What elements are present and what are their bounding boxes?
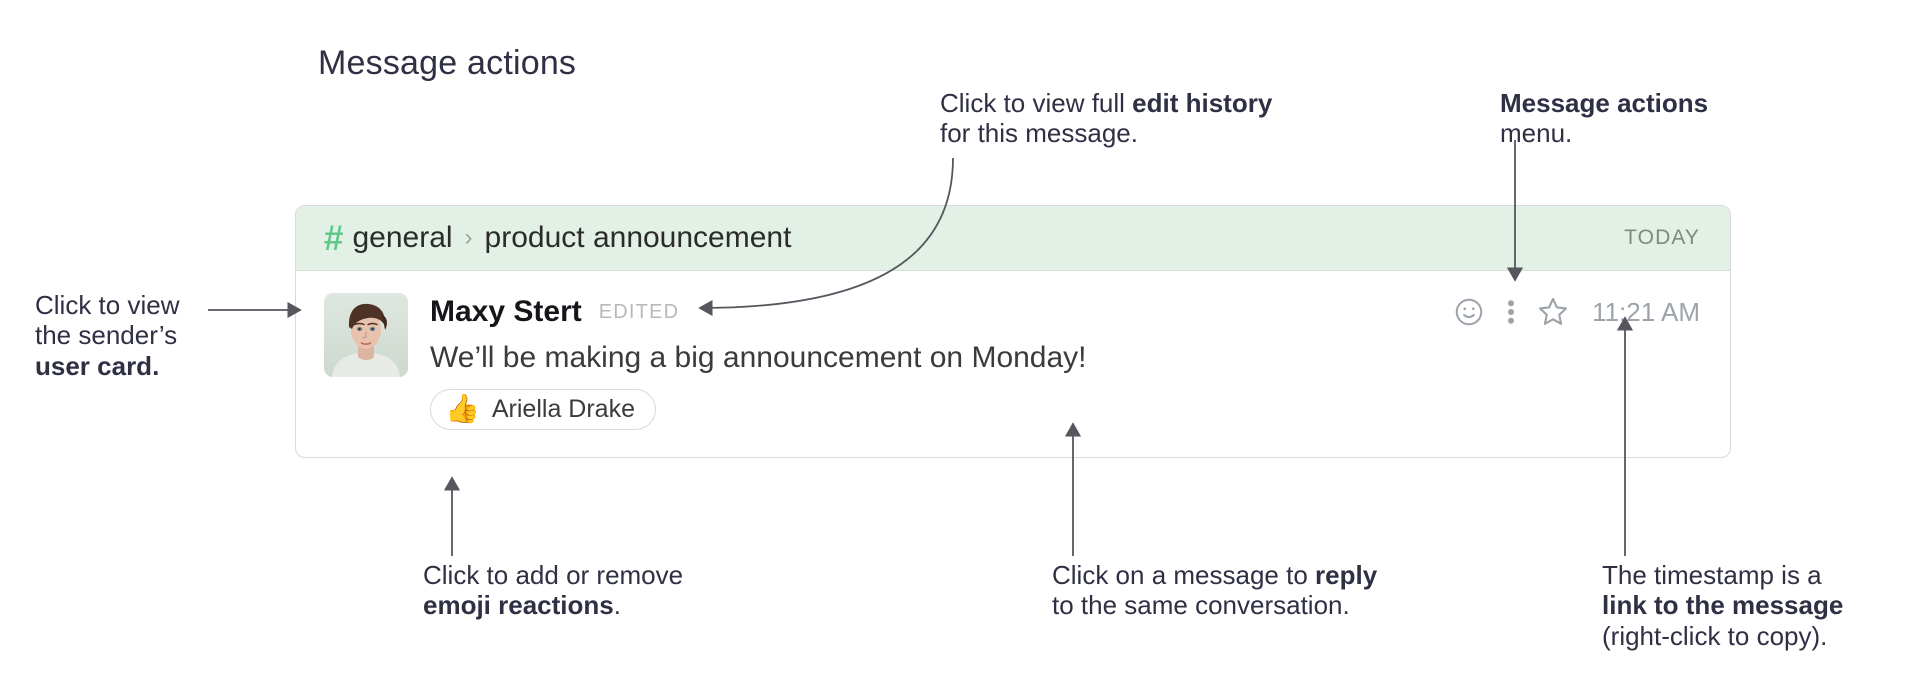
annotation-text: (right-click to copy). <box>1602 621 1827 651</box>
annotation-message-actions-menu: Message actionsmenu. <box>1500 88 1800 149</box>
annotation-emphasis: Message actions <box>1500 88 1708 118</box>
annotation-text: Click to add or remove <box>423 560 683 590</box>
message-card: # general › product announcement TODAY <box>295 205 1731 458</box>
annotation-line: (right-click to copy). <box>1602 621 1912 651</box>
channel-header: # general › product announcement TODAY <box>296 206 1730 271</box>
annotation-text: The timestamp is a <box>1602 560 1822 590</box>
date-label: TODAY <box>1624 226 1700 250</box>
message-timestamp[interactable]: 11:21 AM <box>1592 297 1700 328</box>
annotation-line: Click to view full edit history <box>940 88 1360 118</box>
annotation-text: for this message. <box>940 118 1138 148</box>
message-actions-menu-icon[interactable] <box>1494 291 1528 333</box>
annotation-text: menu. <box>1500 118 1572 148</box>
annotation-line: link to the message <box>1602 590 1912 620</box>
annotation-reply: Click on a message to replyto the same c… <box>1052 560 1452 621</box>
annotation-text: . <box>614 590 621 620</box>
annotation-text: Click to view <box>35 290 179 320</box>
annotation-line: Click on a message to reply <box>1052 560 1452 590</box>
channel-name[interactable]: general <box>352 221 452 255</box>
reaction-row: 👍 Ariella Drake <box>430 389 1700 430</box>
annotation-emoji-reactions: Click to add or removeemoji reactions. <box>423 560 773 621</box>
annotation-emphasis: emoji reactions <box>423 590 614 620</box>
message-actions: 11:21 AM <box>1444 291 1700 333</box>
reaction-user: Ariella Drake <box>492 395 635 424</box>
avatar[interactable] <box>324 293 408 377</box>
annotation-line: menu. <box>1500 118 1800 148</box>
annotation-line: The timestamp is a <box>1602 560 1912 590</box>
topic-name[interactable]: product announcement <box>485 221 792 255</box>
annotation-user-card: Click to viewthe sender’suser card. <box>35 290 265 381</box>
annotation-line: Click to add or remove <box>423 560 773 590</box>
message-body: Maxy Stert EDITED <box>408 291 1700 430</box>
annotation-line: user card. <box>35 351 265 381</box>
annotation-timestamp-link: The timestamp is alink to the message(ri… <box>1602 560 1912 651</box>
annotation-line: emoji reactions. <box>423 590 773 620</box>
hash-icon: # <box>324 221 342 256</box>
annotation-text: the sender’s <box>35 320 177 350</box>
annotation-line: the sender’s <box>35 320 265 350</box>
edited-badge[interactable]: EDITED <box>599 301 680 324</box>
annotation-emphasis: reply <box>1315 560 1377 590</box>
annotation-line: to the same conversation. <box>1052 590 1452 620</box>
message-text[interactable]: We’ll be making a big announcement on Mo… <box>430 339 1700 377</box>
star-message-icon[interactable] <box>1528 291 1578 333</box>
chevron-right-icon: › <box>465 226 473 250</box>
annotation-text: Click to view full <box>940 88 1132 118</box>
annotation-text: Click on a message to <box>1052 560 1315 590</box>
page-title: Message actions <box>318 44 576 83</box>
message-row[interactable]: Maxy Stert EDITED <box>296 271 1730 430</box>
annotation-line: Click to view <box>35 290 265 320</box>
annotation-emphasis: link to the message <box>1602 590 1843 620</box>
annotation-emphasis: edit history <box>1132 88 1272 118</box>
annotation-line: Message actions <box>1500 88 1800 118</box>
thumbs-up-emoji: 👍 <box>445 395 480 423</box>
message-header-line: Maxy Stert EDITED <box>430 291 1700 333</box>
annotation-line: for this message. <box>940 118 1360 148</box>
annotation-emphasis: user card. <box>35 351 159 381</box>
sender-name[interactable]: Maxy Stert <box>430 295 582 329</box>
add-reaction-icon[interactable] <box>1444 291 1494 333</box>
annotation-edit-history: Click to view full edit historyfor this … <box>940 88 1360 149</box>
annotation-text: to the same conversation. <box>1052 590 1350 620</box>
reaction-pill[interactable]: 👍 Ariella Drake <box>430 389 656 430</box>
